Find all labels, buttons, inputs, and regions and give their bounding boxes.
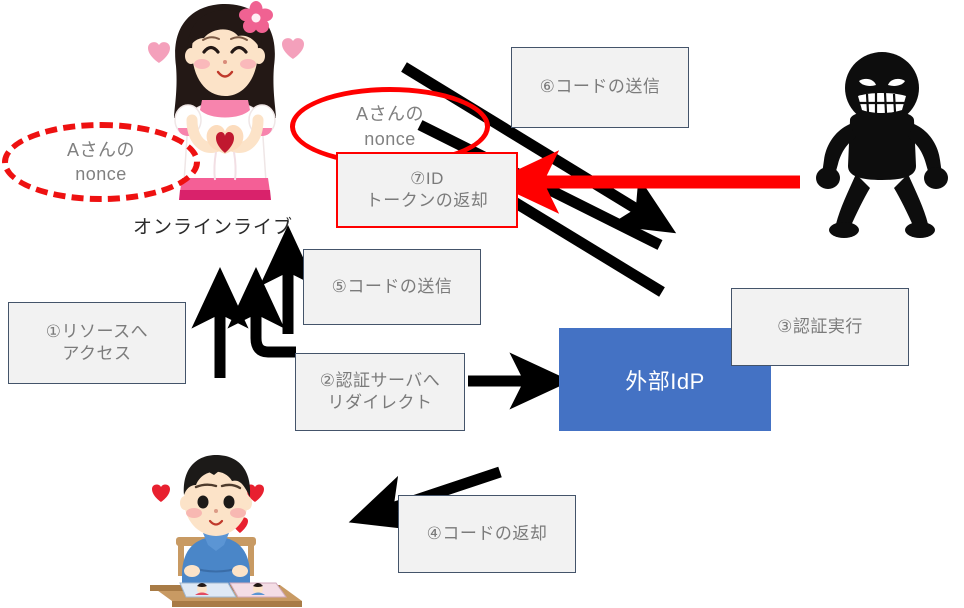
step-box-2[interactable]: ②認証サーバへ リダイレクト bbox=[295, 353, 465, 431]
step-box-1[interactable]: ①リソースへ アクセス bbox=[8, 302, 186, 384]
nonce-annotation-dashed: Aさんの nonce bbox=[2, 122, 200, 202]
diagram-canvas: オンラインライブ 外部IdP ①リソースへ アクセス ②認証サーバへ リダイレク… bbox=[0, 0, 964, 608]
step-box-6[interactable]: ⑥コードの送信 bbox=[511, 47, 689, 128]
attacker-silhouette-illustration bbox=[812, 48, 952, 240]
step-box-7[interactable]: ⑦ID トークンの返却 bbox=[336, 152, 518, 228]
external-idp-label: 外部IdP bbox=[625, 364, 705, 396]
online-live-label: オンラインライブ bbox=[133, 212, 293, 239]
step-box-3[interactable]: ③認証実行 bbox=[731, 288, 909, 366]
seated-viewer-illustration bbox=[140, 445, 315, 608]
step-box-5[interactable]: ⑤コードの送信 bbox=[303, 249, 481, 325]
step-box-4[interactable]: ④コードの返却 bbox=[398, 495, 576, 573]
